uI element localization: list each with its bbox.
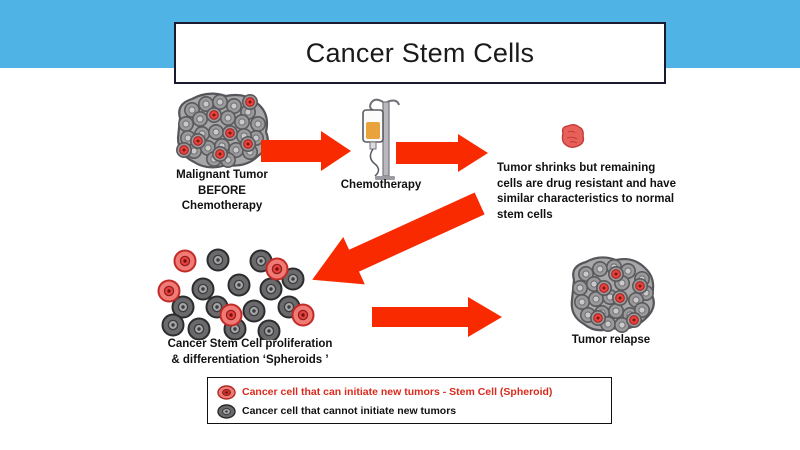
stem-cell-red-icon <box>217 385 236 400</box>
legend-stem-cell-label: Cancer cell that can initiate new tumors… <box>242 387 552 398</box>
legend-normal-cell-label: Cancer cell that cannot initiate new tum… <box>242 406 456 417</box>
legend-box: Cancer cell that can initiate new tumors… <box>207 377 612 424</box>
slide-canvas: Cancer Stem Cells <box>0 0 800 450</box>
normal-cancer-cell-gray-icon <box>217 404 236 419</box>
arrow-chemo-to-shrink <box>396 134 490 172</box>
tumor-shrinks-label: Tumor shrinks but remaining cells are dr… <box>497 161 692 223</box>
tumor-relapse-icon <box>558 252 662 343</box>
page-title: Cancer Stem Cells <box>306 40 534 67</box>
legend-item-stem-cell: Cancer cell that can initiate new tumors… <box>217 383 611 402</box>
residual-tumor-icon <box>557 123 587 156</box>
arrow-spheroids-to-relapse <box>372 296 504 338</box>
legend-item-normal-cell: Cancer cell that cannot initiate new tum… <box>217 402 611 421</box>
malignant-tumor-label: Malignant Tumor BEFORE Chemotherapy <box>152 168 292 215</box>
spheroid-scatter-icon <box>155 245 335 345</box>
arrow-tumor-to-chemo <box>261 131 353 171</box>
title-box: Cancer Stem Cells <box>174 22 666 84</box>
tumor-relapse-label: Tumor relapse <box>548 333 674 349</box>
spheroids-label: Cancer Stem Cell proliferation & differe… <box>145 337 355 368</box>
